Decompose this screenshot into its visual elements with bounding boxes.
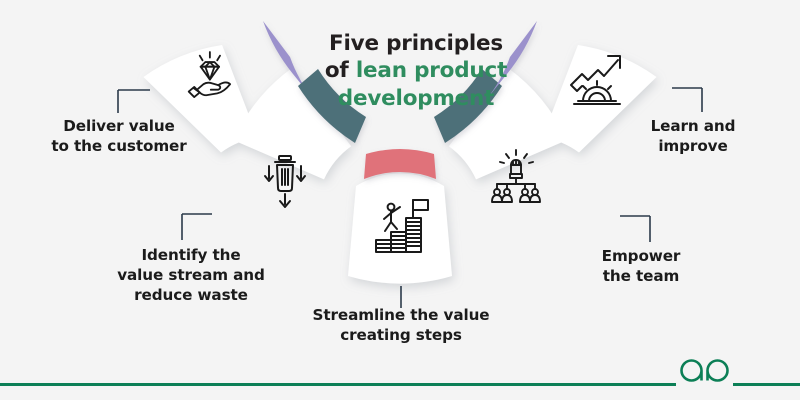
title-line-1: Five principles: [329, 31, 503, 56]
label-learn-line-2: improve: [618, 136, 768, 156]
footer-rule-right: [733, 383, 800, 386]
label-deliver-value-line-1: Deliver value: [34, 116, 204, 136]
petal-streamline-steps[interactable]: [348, 174, 452, 284]
connector-learn-improve: [672, 88, 702, 112]
connector-deliver-value: [118, 90, 150, 113]
label-empower-team: Empower the team: [566, 246, 716, 286]
label-streamline-line-2: creating steps: [296, 325, 506, 345]
label-learn-improve: Learn and improve: [618, 116, 768, 156]
label-empower-line-2: the team: [566, 266, 716, 286]
title-line-2-accent: lean product: [356, 58, 507, 83]
connector-empower-team: [620, 216, 650, 242]
title-line-3: development: [338, 86, 494, 111]
geeksforgeeks-logo: [676, 357, 733, 391]
label-identify-line-2: value stream and: [96, 265, 286, 285]
label-deliver-value-line-2: to the customer: [34, 136, 204, 156]
label-identify-line-3: reduce waste: [96, 285, 286, 305]
title-line-2: of lean product: [325, 58, 507, 83]
label-empower-line-1: Empower: [566, 246, 716, 266]
label-streamline-line-1: Streamline the value: [296, 305, 506, 325]
connector-identify-value-stream: [182, 214, 212, 240]
title-line-2-prefix: of: [325, 58, 356, 83]
footer-rule-left: [0, 383, 676, 386]
label-deliver-value: Deliver value to the customer: [34, 116, 204, 156]
label-identify-value-stream: Identify the value stream and reduce was…: [96, 245, 286, 306]
label-streamline-steps: Streamline the value creating steps: [296, 305, 506, 345]
page-title: Five principles of lean product developm…: [318, 30, 514, 112]
label-identify-line-1: Identify the: [96, 245, 286, 265]
label-learn-line-1: Learn and: [618, 116, 768, 136]
